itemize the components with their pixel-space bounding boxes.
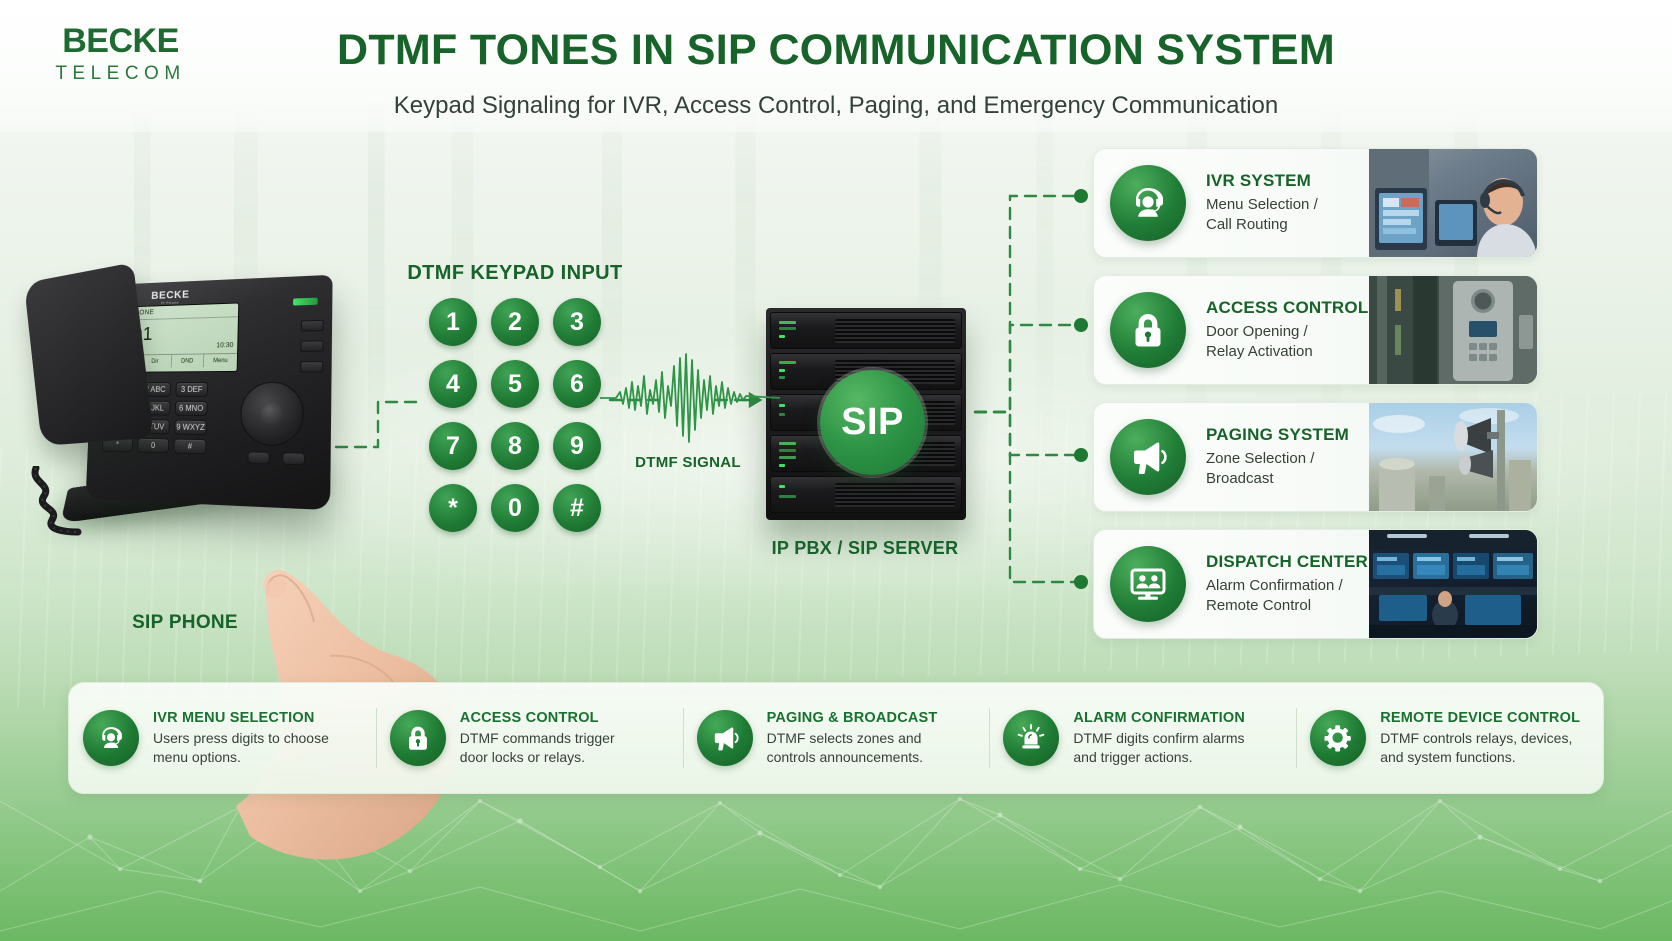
sip-badge: SIP (820, 370, 925, 475)
phone-cord (26, 466, 156, 538)
summary-desc-line2: and trigger actions. (1073, 748, 1245, 766)
phone-key-hash[interactable]: # (173, 438, 206, 454)
card-desc-line2: Broadcast (1206, 469, 1369, 489)
card-access-control[interactable]: ACCESS CONTROL Door Opening / Relay Acti… (1093, 275, 1538, 385)
summary-item-remote-device-control[interactable]: REMOTE DEVICE CONTROL DTMF controls rela… (1296, 702, 1603, 774)
card-desc-line1: Door Opening / (1206, 322, 1369, 342)
summary-desc-line1: DTMF controls relays, devices, (1380, 729, 1580, 747)
summary-title: ALARM CONFIRMATION (1073, 710, 1245, 726)
dtmf-key-7[interactable]: 7 (429, 422, 477, 470)
summary-text: REMOTE DEVICE CONTROL DTMF controls rela… (1366, 710, 1580, 765)
card-ivr-system[interactable]: IVR SYSTEM Menu Selection / Call Routing (1093, 148, 1538, 258)
card-text: DISPATCH CENTER Alarm Confirmation / Rem… (1186, 552, 1369, 616)
phone-softkey-menu[interactable]: Menu (204, 354, 237, 367)
summary-item-ivr-menu-selection[interactable]: IVR MENU SELECTION Users press digits to… (69, 702, 376, 774)
card-title: PAGING SYSTEM (1206, 425, 1369, 445)
phone-brand-label: BECKE IP Phone (151, 289, 190, 306)
page-title: DTMF TONES IN SIP COMMUNICATION SYSTEM (0, 26, 1672, 75)
megaphone-icon (697, 710, 753, 766)
phone-key-9[interactable]: 9 WXYZ (174, 420, 207, 435)
card-title: DISPATCH CENTER (1206, 552, 1369, 572)
phone-side-key-2[interactable] (300, 340, 323, 352)
summary-text: ACCESS CONTROL DTMF commands trigger doo… (446, 710, 615, 765)
dtmf-key-hash[interactable]: # (553, 484, 601, 532)
phone-side-key-3[interactable] (300, 361, 323, 373)
lock-icon (1110, 292, 1186, 368)
summary-title: REMOTE DEVICE CONTROL (1380, 710, 1580, 726)
card-paging-system[interactable]: PAGING SYSTEM Zone Selection / Broadcast (1093, 402, 1538, 512)
phone-handset (24, 262, 154, 446)
summary-title: PAGING & BROADCAST (767, 710, 938, 726)
megaphone-icon (1110, 419, 1186, 495)
card-desc-line2: Call Routing (1206, 215, 1369, 235)
phone-clock: 10:30 (216, 342, 233, 349)
card-text: PAGING SYSTEM Zone Selection / Broadcast (1186, 425, 1369, 489)
summary-desc-line2: door locks or relays. (460, 748, 615, 766)
summary-desc-line1: Users press digits to choose (153, 729, 329, 747)
card-title: ACCESS CONTROL (1206, 298, 1369, 318)
dtmf-key-6[interactable]: 6 (553, 360, 601, 408)
control-room-photo (1369, 529, 1537, 639)
dtmf-key-1[interactable]: 1 (429, 298, 477, 346)
server-vents (835, 483, 955, 507)
dtmf-key-8[interactable]: 8 (491, 422, 539, 470)
summary-desc-line1: DTMF selects zones and (767, 729, 938, 747)
phone-speaker-button[interactable] (247, 451, 270, 464)
phone-side-key-1[interactable] (301, 320, 324, 332)
server-vents (835, 319, 955, 343)
card-desc-line2: Relay Activation (1206, 342, 1369, 362)
dispatch-monitor-icon (1110, 546, 1186, 622)
card-desc-line1: Zone Selection / (1206, 449, 1369, 469)
summary-text: ALARM CONFIRMATION DTMF digits confirm a… (1059, 710, 1245, 765)
dtmf-key-9[interactable]: 9 (553, 422, 601, 470)
card-desc-line1: Menu Selection / (1206, 195, 1369, 215)
summary-desc-line2: controls announcements. (767, 748, 938, 766)
dtmf-key-0[interactable]: 0 (491, 484, 539, 532)
summary-item-access-control[interactable]: ACCESS CONTROL DTMF commands trigger doo… (376, 702, 683, 774)
phone-key-3[interactable]: 3 DEF (175, 382, 208, 397)
card-desc-line2: Remote Control (1206, 596, 1369, 616)
dtmf-key-3[interactable]: 3 (553, 298, 601, 346)
summary-item-alarm-confirmation[interactable]: ALARM CONFIRMATION DTMF digits confirm a… (989, 702, 1296, 774)
siren-icon (1003, 710, 1059, 766)
server-unit-5 (770, 476, 962, 513)
gear-icon (1310, 710, 1366, 766)
phone-headset-button[interactable] (282, 452, 305, 465)
server-unit-1 (770, 312, 962, 349)
card-text: ACCESS CONTROL Door Opening / Relay Acti… (1186, 298, 1369, 362)
dtmf-key-5[interactable]: 5 (491, 360, 539, 408)
summary-desc-line2: menu options. (153, 748, 329, 766)
dtmf-key-4[interactable]: 4 (429, 360, 477, 408)
summary-desc-line2: and system functions. (1380, 748, 1580, 766)
card-text: IVR SYSTEM Menu Selection / Call Routing (1186, 171, 1369, 235)
headset-agent-icon (83, 710, 139, 766)
dtmf-waveform-icon (600, 352, 780, 444)
horn-speakers-photo (1369, 402, 1537, 512)
call-center-agent-photo (1369, 148, 1537, 258)
card-dispatch-center[interactable]: DISPATCH CENTER Alarm Confirmation / Rem… (1093, 529, 1538, 639)
phone-status-led (293, 298, 318, 306)
sip-phone-label: SIP PHONE (60, 612, 310, 634)
dtmf-keypad[interactable]: 1 2 3 4 5 6 7 8 9 * 0 # (429, 298, 601, 532)
use-case-cards: IVR SYSTEM Menu Selection / Call Routing (1093, 148, 1538, 656)
dtmf-keypad-title: DTMF KEYPAD INPUT (380, 262, 650, 285)
summary-desc-line1: DTMF commands trigger (460, 729, 615, 747)
lock-icon (390, 710, 446, 766)
ip-pbx-server: SIP (758, 308, 973, 523)
dtmf-key-star[interactable]: * (429, 484, 477, 532)
phone-navigation-pad[interactable] (240, 382, 304, 447)
summary-text: IVR MENU SELECTION Users press digits to… (139, 710, 329, 765)
summary-strip: IVR MENU SELECTION Users press digits to… (68, 682, 1604, 794)
dtmf-signal-label: DTMF SIGNAL (598, 454, 778, 471)
summary-title: ACCESS CONTROL (460, 710, 615, 726)
phone-key-6[interactable]: 6 MNO (175, 401, 208, 416)
summary-title: IVR MENU SELECTION (153, 710, 329, 726)
door-intercom-photo (1369, 275, 1537, 385)
sip-phone-illustration: BECKE IP Phone S IP PHONE 1001 10:30 His… (20, 270, 360, 570)
page-subtitle: Keypad Signaling for IVR, Access Control… (0, 92, 1672, 120)
summary-text: PAGING & BROADCAST DTMF selects zones an… (753, 710, 938, 765)
headset-agent-icon (1110, 165, 1186, 241)
summary-item-paging-broadcast[interactable]: PAGING & BROADCAST DTMF selects zones an… (683, 702, 990, 774)
summary-desc-line1: DTMF digits confirm alarms (1073, 729, 1245, 747)
phone-softkey-dnd[interactable]: DND (171, 354, 204, 367)
phone-key-0[interactable]: 0 (137, 438, 169, 454)
ip-pbx-label: IP PBX / SIP SERVER (730, 538, 1000, 559)
sip-badge-label: SIP (841, 401, 904, 444)
card-title: IVR SYSTEM (1206, 171, 1369, 191)
card-desc-line1: Alarm Confirmation / (1206, 576, 1369, 596)
dtmf-key-2[interactable]: 2 (491, 298, 539, 346)
